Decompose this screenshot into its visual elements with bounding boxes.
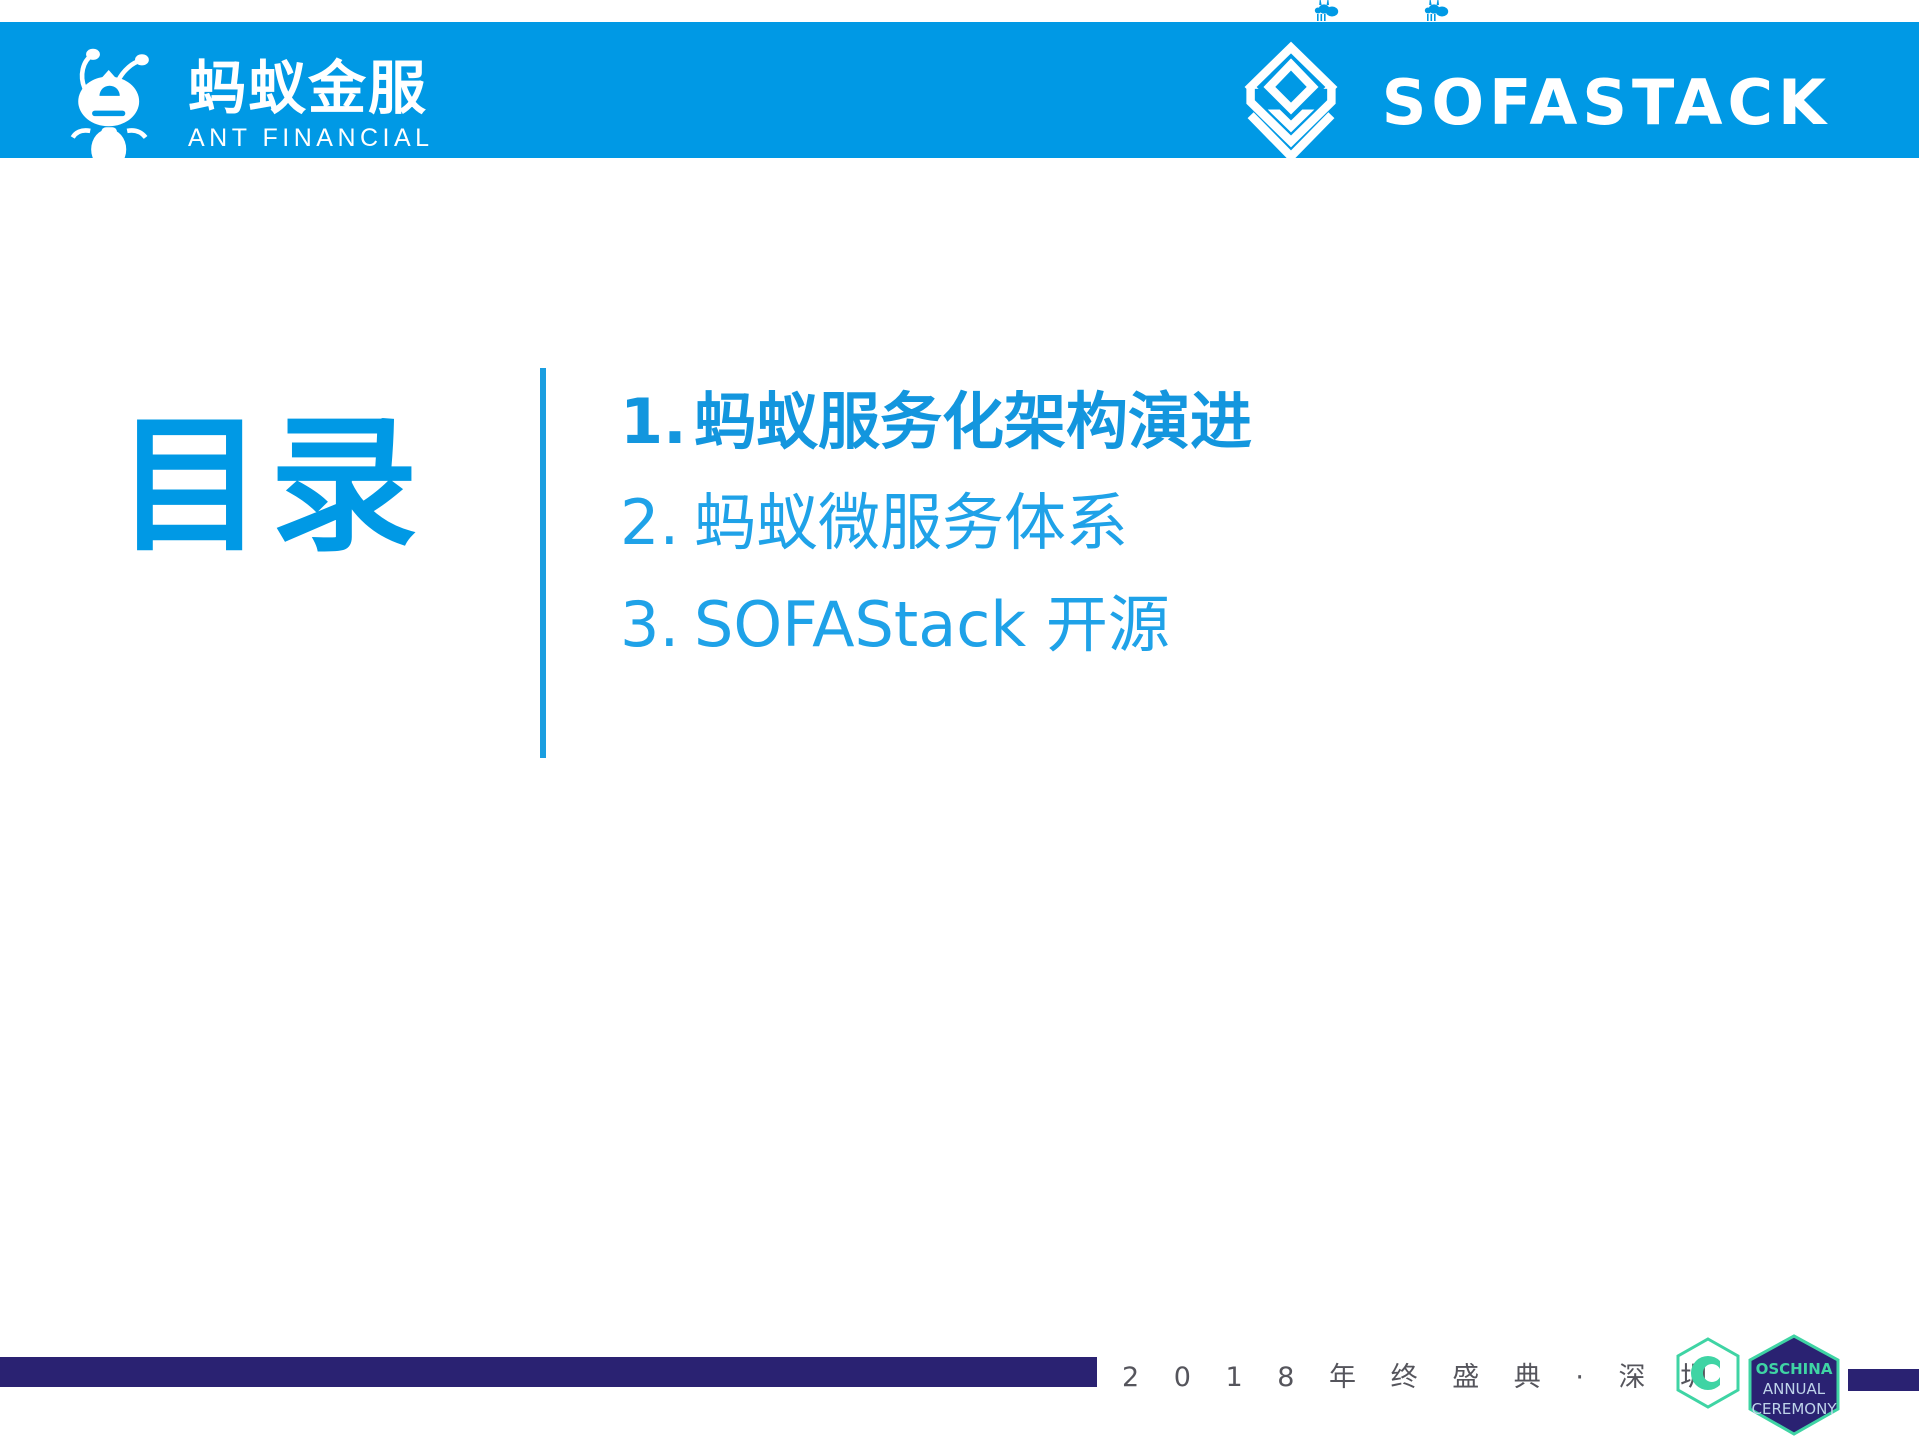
ant-financial-wordmark: 蚂蚁金服 ANT FINANCIAL bbox=[188, 60, 434, 153]
agenda-item-2[interactable]: 2. 蚂蚁微服务体系 bbox=[620, 483, 1252, 562]
footer-event-text: 2 0 1 8 年 终 盛 典 · 深 圳 bbox=[1122, 1355, 1720, 1394]
agenda-item-3-label: SOFAStack 开源 bbox=[694, 585, 1170, 664]
sofastack-wordmark: SOFASTACK bbox=[1382, 66, 1831, 139]
agenda-item-1-label: 蚂蚁服务化架构演进 bbox=[694, 382, 1252, 461]
vertical-divider bbox=[540, 368, 546, 758]
footer-accent-bar bbox=[0, 1357, 1097, 1387]
ant-financial-cn-name: 蚂蚁金服 bbox=[188, 60, 428, 118]
ant-mascot-icon bbox=[62, 46, 172, 166]
agenda-list: 1. 蚂蚁服务化架构演进 2. 蚂蚁微服务体系 3. SOFAStack 开源 bbox=[620, 360, 1252, 664]
ant-financial-logo: 蚂蚁金服 ANT FINANCIAL bbox=[62, 46, 434, 166]
agenda-item-1-number: 1. bbox=[620, 382, 694, 461]
agenda-item-2-label: 蚂蚁微服务体系 bbox=[694, 483, 1128, 562]
sofastack-logo: SOFASTACK bbox=[1238, 40, 1831, 164]
page-title: 目录 bbox=[0, 360, 540, 560]
slide-footer: 2 0 1 8 年 终 盛 典 · 深 圳 OSCHINA ANNUAL CER… bbox=[0, 1331, 1919, 1439]
agenda-section: 目录 1. 蚂蚁服务化架构演进 2. 蚂蚁微服务体系 3. SOFAStack … bbox=[0, 360, 1919, 758]
agenda-item-1[interactable]: 1. 蚂蚁服务化架构演进 bbox=[620, 382, 1252, 461]
agenda-item-2-number: 2. bbox=[620, 483, 694, 562]
top-strip bbox=[0, 0, 1919, 22]
ant-financial-en-name: ANT FINANCIAL bbox=[188, 124, 434, 153]
badge-line-3: CEREMONY bbox=[1752, 1400, 1838, 1418]
sofastack-stacked-chevron-icon bbox=[1238, 40, 1344, 164]
presentation-slide: 蚂蚁金服 ANT FINANCIAL SOFASTAC bbox=[0, 0, 1919, 1439]
header-band: 蚂蚁金服 ANT FINANCIAL SOFASTAC bbox=[0, 22, 1919, 158]
oschina-hexagon-c-icon: OSCHINA ANNUAL CEREMONY bbox=[1662, 1333, 1919, 1437]
badge-line-1: OSCHINA bbox=[1756, 1360, 1833, 1378]
badge-line-2: ANNUAL bbox=[1763, 1380, 1826, 1398]
agenda-item-3[interactable]: 3. SOFAStack 开源 bbox=[620, 585, 1252, 664]
agenda-item-3-number: 3. bbox=[620, 585, 694, 664]
